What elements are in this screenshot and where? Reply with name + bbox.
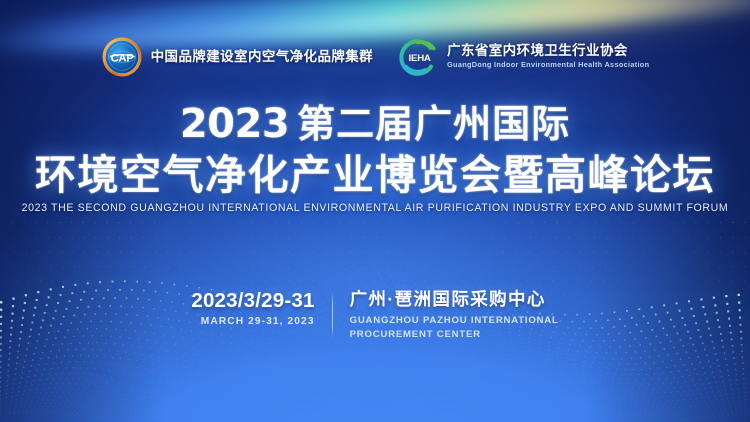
event-venue: 广州·琶洲国际采购中心 GUANGZHOU PAZHOU INTERNATION… (350, 288, 559, 341)
ieha-swoosh-logo-icon: IEHA (397, 36, 439, 78)
event-venue-cn: 广州·琶洲国际采购中心 (350, 290, 559, 309)
event-info: 2023/3/29-31 MARCH 29-31, 2023 广州·琶洲国际采购… (0, 288, 750, 341)
event-date: 2023/3/29-31 MARCH 29-31, 2023 (191, 288, 314, 327)
headline-block: 2023第二届广州国际 环境空气净化产业博览会暨高峰论坛 (0, 104, 750, 196)
expo-banner: CAP 中国品牌建设室内空气净化品牌集群 (0, 0, 750, 422)
venue-en-line-1: GUANGZHOU PAZHOU INTERNATIONAL (350, 315, 559, 326)
event-date-main: 2023/3/29-31 (191, 290, 314, 312)
association-logos: CAP 中国品牌建设室内空气净化品牌集群 (0, 36, 750, 78)
headline-year: 2023 (180, 101, 289, 147)
venue-en-line-2: PROCUREMENT CENTER (350, 329, 481, 340)
headline-subtitle-en: 2023 THE SECOND GUANGZHOU INTERNATIONAL … (0, 202, 750, 214)
ieha-name-cn: 广东省室内环境卫生行业协会 (447, 43, 649, 59)
cap-name-cn: 中国品牌建设室内空气净化品牌集群 (151, 49, 373, 65)
event-date-sub: MARCH 29-31, 2023 (191, 316, 314, 327)
logo-cap: CAP 中国品牌建设室内空气净化品牌集群 (101, 36, 373, 78)
ieha-name-en: GuangDong Indoor Environmental Health As… (447, 60, 649, 71)
headline-line-1-text: 第二届广州国际 (297, 104, 570, 146)
headline-line-2: 环境空气净化产业博览会暨高峰论坛 (0, 155, 750, 196)
ieha-logo-text: 广东省室内环境卫生行业协会 GuangDong Indoor Environme… (447, 43, 649, 71)
info-divider (332, 292, 333, 338)
logo-ieha: IEHA 广东省室内环境卫生行业协会 GuangDong Indoor Envi… (397, 36, 649, 78)
event-venue-en: GUANGZHOU PAZHOU INTERNATIONALPROCUREMEN… (350, 314, 559, 341)
headline-line-1: 2023第二届广州国际 (0, 104, 750, 144)
cap-seal-logo-icon: CAP (101, 36, 143, 78)
cap-logo-text: 中国品牌建设室内空气净化品牌集群 (151, 49, 373, 65)
svg-text:IEHA: IEHA (409, 53, 431, 64)
